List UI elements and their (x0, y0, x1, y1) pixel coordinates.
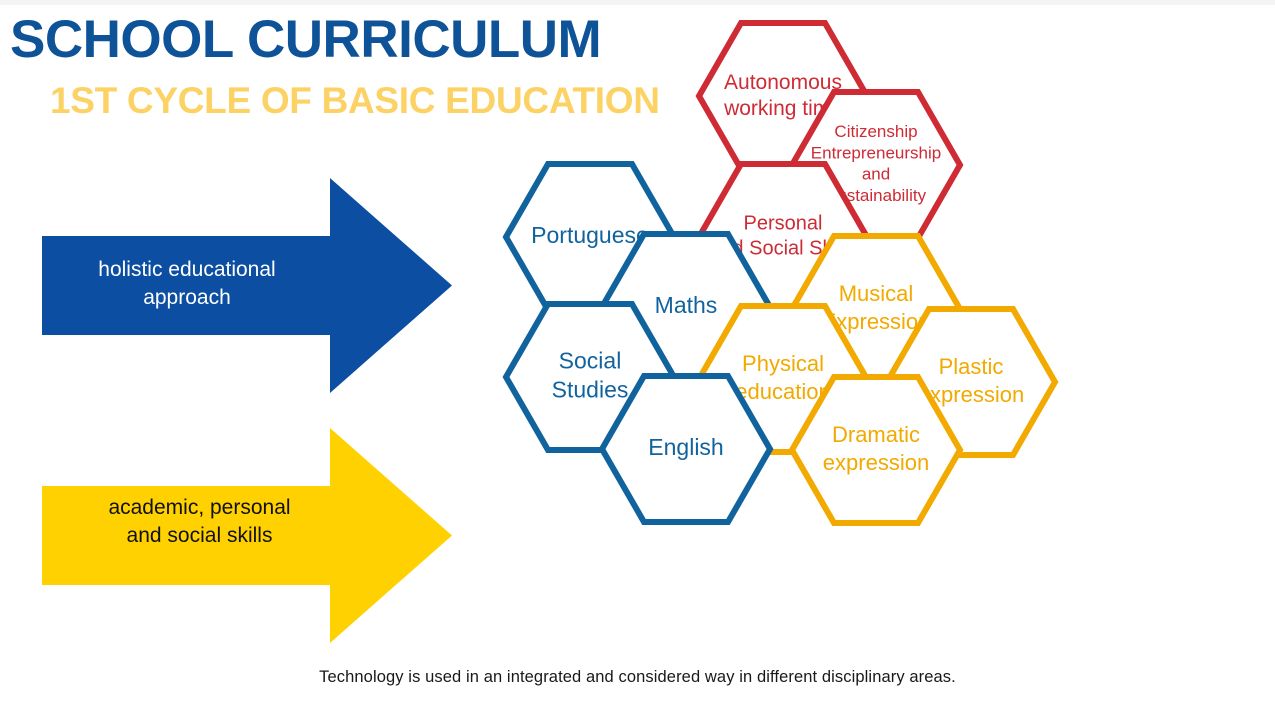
arrow-academic-shape (42, 428, 452, 643)
footer-caption: Technology is used in an integrated and … (0, 668, 1275, 687)
hexagon-cluster: Autonomousworking timeCitizenshipEntrepr… (508, 8, 1268, 588)
arrow-holistic (42, 178, 452, 393)
arrow-holistic-shape (42, 178, 452, 393)
slide-canvas: SCHOOL CURRICULUM 1ST CYCLE OF BASIC EDU… (0, 0, 1275, 711)
arrow-academic (42, 428, 452, 643)
top-edge-strip (0, 0, 1275, 5)
hexagon-cluster-svg: Autonomousworking timeCitizenshipEntrepr… (508, 8, 1268, 588)
